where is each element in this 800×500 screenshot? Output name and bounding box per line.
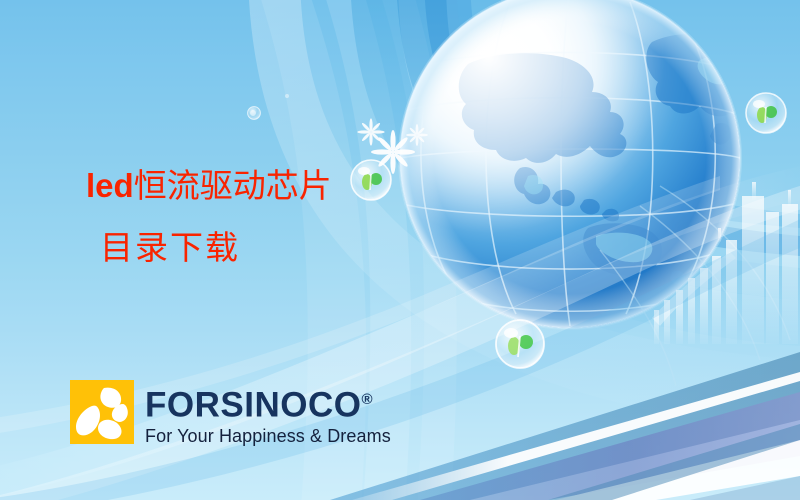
- soap-bubble-icon: [496, 320, 544, 368]
- headline-line-1-latin: led: [86, 167, 134, 204]
- green-leaf-icon: [757, 106, 777, 123]
- grid-echo: [600, 186, 790, 386]
- poster-canvas: led恒流驱动芯片 目录下载 FORSINOCO® For Your Happ: [0, 0, 800, 500]
- four-petal-pinwheel-icon: [70, 380, 134, 444]
- headline-block: led恒流驱动芯片 目录下载: [86, 164, 506, 270]
- city-skyline-icon: [654, 182, 798, 344]
- green-leaf-icon: [508, 335, 533, 357]
- headline-line-2: 目录下载: [100, 226, 506, 270]
- brand-logo: FORSINOCO® For Your Happiness & Dreams: [70, 380, 391, 447]
- registered-trademark-icon: ®: [361, 391, 372, 408]
- headline-line-1-cjk: 恒流驱动芯片: [134, 166, 332, 205]
- skyline-highlight: [652, 252, 736, 326]
- logo-text-block: FORSINOCO® For Your Happiness & Dreams: [145, 380, 391, 447]
- starburst-sparkle-icon: [406, 124, 428, 146]
- sparkle-group: [250, 94, 428, 174]
- logo-mark: [70, 380, 134, 444]
- soap-bubble-icon: [746, 93, 786, 133]
- logo-wordmark-text: FORSINOCO: [145, 386, 361, 425]
- soap-bubble-icon: [248, 107, 261, 120]
- logo-wordmark: FORSINOCO®: [145, 382, 391, 424]
- logo-tagline: For Your Happiness & Dreams: [145, 425, 391, 447]
- headline-line-1: led恒流驱动芯片: [86, 164, 506, 208]
- starburst-sparkle-icon: [357, 118, 384, 145]
- corner-bands: [330, 352, 800, 500]
